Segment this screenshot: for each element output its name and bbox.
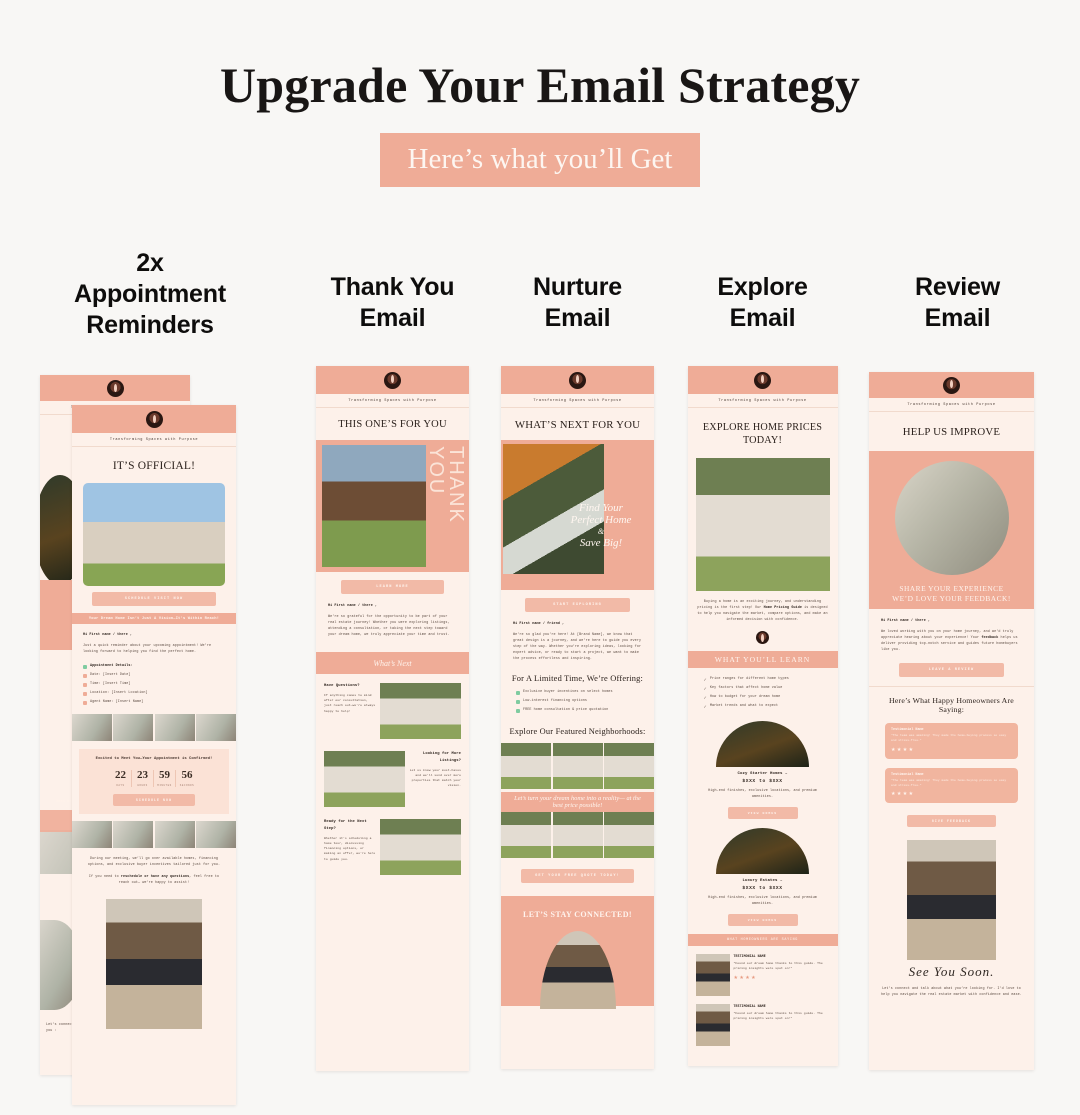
countdown-cta-button[interactable]: SCHEDULE NOW [113,794,195,806]
hero-photo [83,483,225,586]
brand-tagline: Transforming Spaces with Purpose [72,433,236,446]
testimonial-name: Testimonial Name [891,773,1012,777]
brand-tagline: Transforming Spaces with Purpose [316,394,469,407]
gallery-thumb [155,821,195,848]
detail-label: Time: [Insert Time] [90,682,131,688]
overlay-line: WE’D LOVE YOUR FEEDBACK! [869,594,1034,605]
listing-price: $XXX to $XXX [688,778,838,786]
learn-item: ✓ Market trends and what to expect [704,704,822,710]
heading-line: 2x [40,248,260,279]
testimonial-row: TESTIMONIAL NAME “Found our dream home t… [688,996,838,1046]
greeting: Hi First name / friend , [513,622,642,628]
square-bullet-icon [516,700,520,704]
heading-line: Thank You [310,272,475,303]
intro-copy: Buying a home is an exciting journey, an… [697,600,829,624]
listing-price: $XXX to $XXX [688,885,838,893]
section-band-title: What’s Next [373,659,411,668]
detail-item: Time: [Insert Time] [83,682,225,688]
reviews-title: Here’s What Happy Homeowners Are Saying: [869,687,1034,714]
connect-band-title: LET’S STAY CONNECTED! [501,910,654,919]
brand-logo-icon [384,372,401,389]
detail-item: Date: [Insert Date] [83,673,225,679]
email-title: WHAT’S NEXT FOR YOU [501,408,654,440]
agent-photo [907,840,996,960]
card-photo [324,751,405,807]
listing-name: Cozy Starter Homes – [688,771,838,778]
testimonial-band-title: WHAT HOMEOWNERS ARE SAYING [727,938,798,942]
neighborhood-photo [604,743,654,789]
heading-line: Reminders [40,310,260,341]
brand-logo-icon [756,631,769,644]
countdown-label: SECONDS [176,784,198,787]
learn-text: Market trends and what to expect [710,704,778,710]
square-bullet-icon [83,692,87,696]
email-title: EXPLORE HOME PRICES TODAY! [688,408,838,459]
body-copy: We’re so glad you’re here! At [Brand Nam… [513,633,642,663]
listing-cta-button[interactable]: VIEW HOMES [728,914,798,926]
check-icon: ✓ [704,686,707,691]
heading-line: Nurture [495,272,660,303]
detail-label: Date: [Insert Date] [90,673,131,679]
countdown-value: 56 [176,770,198,781]
detail-label: Agent Name: [Insert Name] [90,700,143,706]
quote-cta-button[interactable]: GET YOUR FREE QUOTE TODAY! [521,869,634,883]
listing-photo [716,828,809,874]
offer-item: Exclusive buyer incentives on select hom… [516,690,639,696]
intro-text-bold: Home Pricing Guide [764,606,802,610]
ribbon-text: Let’s turn your dream home into a realit… [509,795,646,810]
detail-label: Location: [Insert Location] [90,691,148,697]
heading-line: Explore [680,272,845,303]
star-rating-icon: ★★★★ [734,975,830,981]
email-mockup-thank-you[interactable]: Transforming Spaces with Purpose THIS ON… [316,366,469,1071]
countdown-cell: 22 DAYS [110,770,132,787]
offer-item: Low-interest financing options [516,699,639,705]
testimonial-row: TESTIMONIAL NAME “Found our dream home t… [688,946,838,996]
testimonial-text: “Found our dream home thanks to this gui… [734,961,830,972]
testimonial-text: “The team was amazing! They made the hom… [891,779,1012,789]
countdown-cell: 56 SECONDS [176,770,198,787]
agent-photo [106,899,202,1029]
body-text-bold: feedback [981,636,998,640]
neighborhood-photo [553,812,603,858]
countdown-value: 23 [132,770,153,781]
gallery-thumb [196,821,236,848]
heading-line: Email [495,303,660,334]
script-line: Find Your [551,502,651,515]
countdown-cell: 59 MINUTES [154,770,176,787]
body-copy: We’re so grateful for the opportunity to… [328,615,457,639]
countdown-label: HOURS [132,784,153,787]
brand-logo-icon [943,377,960,394]
gallery-thumb [72,714,112,741]
email-mockup-explore[interactable]: Transforming Spaces with Purpose EXPLORE… [688,366,838,1066]
detail-item: Location: [Insert Location] [83,691,225,697]
countdown-value: 22 [110,770,131,781]
agent-photo [540,931,616,1009]
body-copy: We loved working with you on your home j… [881,630,1022,654]
learn-text: How to budget for your dream home [710,695,780,701]
closing-copy-1: During our meeting, we’ll go over availa… [85,857,223,869]
offer-text: Exclusive buyer incentives on select hom… [523,690,613,696]
listing-desc: High-end finishes, exclusive locations, … [688,789,838,801]
heading-line: Review [865,272,1050,303]
heading-line: Email [865,303,1050,334]
check-icon: ✓ [704,695,707,700]
neighborhood-photo [501,812,551,858]
card-text: If anything comes to mind after our cons… [324,693,376,714]
column-review: Review Email Transforming Spaces with Pu… [855,232,1080,1115]
neighborhood-title: Explore Our Featured Neighborhoods: [501,717,654,743]
feature-card: Looking for More Listings? Let us know y… [316,739,469,807]
countdown-timer: 22 DAYS 23 HOURS 59 MINUTES 56 [85,770,223,787]
column-appointment-reminders: 2x Appointment Reminders Transforming Sp… [0,232,300,1115]
brand-tagline: Transforming Spaces with Purpose [869,398,1034,411]
hero-photo [322,445,426,567]
heading-line: Appointment [40,279,260,310]
ribbon-text: Your Dream Home Isn’t Just A Vision—It’s… [89,617,219,621]
square-bullet-icon [516,691,520,695]
brand-tagline: Transforming Spaces with Purpose [501,394,654,407]
closing-copy-2: If you need to reschedule or have any qu… [85,875,223,887]
check-icon: ✓ [704,677,707,682]
vertical-thank-you-text: THANK YOU [426,446,466,572]
email-mockup-nurture[interactable]: Transforming Spaces with Purpose WHAT’S … [501,366,654,1069]
script-line: Perfect Home [551,514,651,527]
testimonial-card: Testimonial Name “The team was amazing! … [885,723,1018,759]
testimonial-name: TESTIMONIAL NAME [734,954,830,960]
hero-photo [696,458,830,591]
card-title: Looking for More Listings? [409,751,461,764]
greeting: Hi First name / there , [881,619,1022,625]
confirm-banner: Excited to Meet You—Your Appointment is … [85,756,223,762]
listing-desc: High-end finishes, exclusive locations, … [688,896,838,908]
hero-section: Upgrade Your Email Strategy Here’s what … [0,0,1080,187]
testimonial-card: Testimonial Name “The team was amazing! … [885,768,1018,804]
learn-text: Price ranges for different home types [710,677,789,683]
check-icon: ✓ [704,704,707,709]
listing-name: Luxury Estates – [688,878,838,885]
details-title-row: Appointment Details: [83,664,225,670]
learn-text: Key factors that affect home value [710,686,783,692]
learn-item: ✓ Price ranges for different home types [704,677,822,683]
give-feedback-button[interactable]: GIVE FEEDBACK [907,815,996,827]
offer-item: FREE home consultation & price quotation [516,708,639,714]
card-text: Let us know your must-haves and we’ll se… [409,768,461,789]
email-mockup-appointment[interactable]: Transforming Spaces with Purpose IT’S OF… [72,405,236,1105]
testimonial-text: “Found our dream home thanks to this gui… [734,1011,830,1022]
neighborhood-photo [553,743,603,789]
gallery-thumb [196,714,236,741]
gallery-thumb [72,821,112,848]
greeting: Hi First name / there , [83,633,225,639]
square-bullet-icon [83,665,87,669]
closing-script: See You Soon. [869,964,1034,979]
closing-text-a: If you need to [89,875,121,879]
feature-card: Have Questions? If anything comes to min… [316,674,469,739]
brand-logo-icon [146,411,163,428]
offer-text: FREE home consultation & price quotation [523,708,608,714]
listing-cta-button[interactable]: VIEW HOMES [728,807,798,819]
email-title: IT’S OFFICIAL! [72,447,236,483]
closing-text-bold: reschedule or have any questions [121,875,189,879]
hero-script-overlay: Find Your Perfect Home & Save Big! [551,502,651,550]
hero-photo [895,461,1009,575]
brand-logo-icon [107,380,124,397]
testimonial-name: TESTIMONIAL NAME [734,1004,830,1010]
feature-card: Ready for the Next Step? Whether it’s sc… [316,807,469,875]
greeting: Hi First name / there , [328,604,457,610]
email-title: HELP US IMPROVE [869,412,1034,451]
script-line: Save Big! [551,537,651,550]
offer-title: For A Limited Time, We’re Offering: [501,663,654,690]
countdown-label: MINUTES [154,784,175,787]
email-columns: 2x Appointment Reminders Transforming Sp… [0,232,1080,1115]
square-bullet-icon [83,674,87,678]
intro-copy: Just a quick reminder about your upcomin… [83,644,225,656]
column-heading-nurture: Nurture Email [485,232,670,334]
card-title: Have Questions? [324,683,376,690]
column-thank-you: Thank You Email Transforming Spaces with… [300,232,485,1115]
square-bullet-icon [83,683,87,687]
details-title: Appointment Details: [90,664,133,670]
detail-item: Agent Name: [Insert Name] [83,700,225,706]
neighborhood-photo [501,743,551,789]
testimonial-avatar [696,954,730,996]
script-line: & [551,527,651,536]
testimonial-name: Testimonial Name [891,728,1012,732]
square-bullet-icon [516,709,520,713]
brand-tagline: Transforming Spaces with Purpose [688,394,838,407]
column-heading-review: Review Email [855,232,1080,334]
title-line: EXPLORE HOME PRICES [694,421,832,435]
neighborhood-photo [604,812,654,858]
learn-item: ✓ How to budget for your dream home [704,695,822,701]
gallery-thumb [113,821,153,848]
testimonial-text: “The team was amazing! They made the hom… [891,734,1012,744]
listing-photo [716,721,809,767]
offer-text: Low-interest financing options [523,699,587,705]
learn-more-button[interactable]: LEARN MORE [341,580,444,594]
card-title: Ready for the Next Step? [324,819,376,832]
column-explore: Explore Email Transforming Spaces with P… [670,232,855,1115]
star-rating-icon: ★★★★ [891,747,1012,753]
column-heading-thank-you: Thank You Email [300,232,485,334]
card-photo [380,683,461,739]
heading-line: Email [680,303,845,334]
heading-line: Email [310,303,475,334]
learn-item: ✓ Key factors that affect home value [704,686,822,692]
column-nurture: Nurture Email Transforming Spaces with P… [485,232,670,1115]
hero-cta-button[interactable]: SCHEDULE VISIT NOW [92,592,216,606]
listing-card[interactable]: Cozy Starter Homes – $XXX to $XXX High-e… [688,713,838,819]
countdown-value: 59 [154,770,175,781]
gallery-thumb [113,714,153,741]
countdown-cell: 23 HOURS [132,770,154,787]
countdown-label: DAYS [110,784,131,787]
testimonial-avatar [696,1004,730,1046]
learn-band-title: WHAT YOU’LL LEARN [715,655,811,664]
email-mockup-review[interactable]: Transforming Spaces with Purpose HELP US… [869,372,1034,1070]
listing-card[interactable]: Luxury Estates – $XXX to $XXX High-end f… [688,819,838,926]
card-photo [380,819,461,875]
start-exploring-button[interactable]: START EXPLORING [525,598,630,612]
email-title: THIS ONE’S FOR YOU [316,408,469,440]
page-title: Upgrade Your Email Strategy [0,56,1080,114]
gallery-thumb [155,714,195,741]
hero-subtitle-badge: Here’s what you’ll Get [380,133,701,187]
star-rating-icon: ★★★★ [891,791,1012,797]
footer-copy: Let’s connect and talk about what you’re… [881,987,1022,999]
brand-logo-icon [754,372,771,389]
leave-review-button[interactable]: LEAVE A REVIEW [899,663,1004,677]
title-line: TODAY! [694,434,832,448]
square-bullet-icon [83,701,87,705]
card-text: Whether it’s scheduling a home tour, dis… [324,836,376,862]
hero-overlay-text: SHARE YOUR EXPERIENCE WE’D LOVE YOUR FEE… [869,584,1034,605]
overlay-line: SHARE YOUR EXPERIENCE [869,584,1034,595]
column-heading-explore: Explore Email [670,232,855,334]
column-heading-appointment: 2x Appointment Reminders [0,232,300,340]
brand-logo-icon [569,372,586,389]
